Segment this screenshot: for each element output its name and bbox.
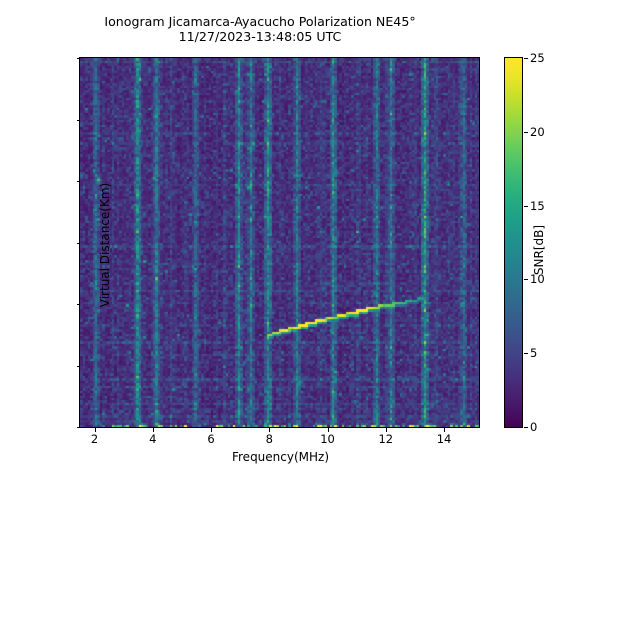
colorbar-tick-label: 10 — [530, 272, 570, 286]
colorbar-tick-mark — [524, 353, 528, 354]
colorbar-tick-mark — [524, 279, 528, 280]
colorbar-tick-label: 0 — [530, 420, 570, 434]
x-axis-tick-mark — [211, 428, 212, 432]
y-axis-tick-mark — [77, 181, 81, 182]
x-axis-tick-label: 8 — [239, 432, 299, 446]
colorbar-tick-label: 5 — [530, 346, 570, 360]
chart-subtitle: 11/27/2023-13:48:05 UTC — [0, 29, 520, 44]
y-axis-tick-mark — [77, 427, 81, 428]
ionogram-figure: Ionogram Jicamarca-Ayacucho Polarization… — [0, 0, 640, 480]
colorbar-tick-mark — [524, 206, 528, 207]
x-axis-tick-mark — [444, 428, 445, 432]
x-axis-tick-label: 12 — [356, 432, 416, 446]
colorbar-tick-mark — [524, 58, 528, 59]
chart-title-block: Ionogram Jicamarca-Ayacucho Polarization… — [0, 14, 520, 44]
colorbar-tick-label: 15 — [530, 199, 570, 213]
y-axis-tick-mark — [77, 243, 81, 244]
ionogram-heatmap — [80, 58, 479, 427]
x-axis-tick-label: 2 — [65, 432, 125, 446]
colorbar-tick-mark — [524, 132, 528, 133]
x-axis-tick-label: 4 — [123, 432, 183, 446]
y-axis-tick-mark — [77, 304, 81, 305]
x-axis-tick-label: 14 — [414, 432, 474, 446]
y-axis-label: Virtual Distance(Km) — [98, 0, 112, 625]
y-axis-tick-mark — [77, 120, 81, 121]
x-axis-tick-mark — [328, 428, 329, 432]
colorbar-tick-mark — [524, 427, 528, 428]
colorbar-tick-label: 20 — [530, 125, 570, 139]
y-axis-tick-mark — [77, 366, 81, 367]
colorbar-tick-label: 25 — [530, 51, 570, 65]
x-axis-tick-mark — [153, 428, 154, 432]
y-axis-tick-mark — [77, 58, 81, 59]
x-axis-tick-label: 6 — [181, 432, 241, 446]
page-title: Ionogram Jicamarca-Ayacucho Polarization… — [0, 14, 520, 29]
x-axis-tick-mark — [386, 428, 387, 432]
plot-axes: Virtual Distance(Km) Frequency(MHz) 0500… — [79, 57, 480, 428]
x-axis-label: Frequency(MHz) — [80, 450, 481, 464]
x-axis-tick-mark — [95, 428, 96, 432]
colorbar-label: SNR[dB] — [532, 160, 546, 340]
x-axis-tick-mark — [269, 428, 270, 432]
colorbar-gradient — [505, 58, 522, 427]
x-axis-tick-label: 10 — [298, 432, 358, 446]
colorbar: SNR[dB] 0510152025 — [504, 57, 523, 428]
